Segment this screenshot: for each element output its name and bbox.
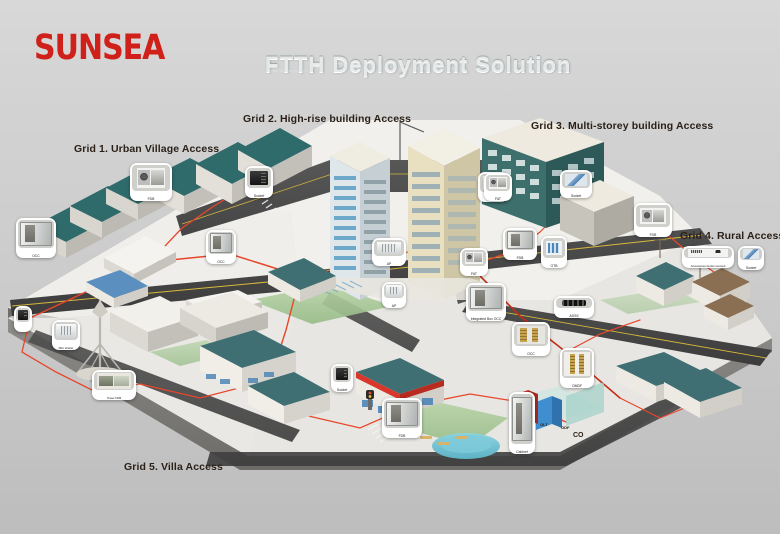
tree bbox=[216, 298, 225, 314]
ftth-deployment-diagram: SUNSEA FTTH Deployment Solution FTTH Dep… bbox=[0, 0, 780, 534]
tree bbox=[252, 270, 261, 286]
callout-tower-fdb-grid5[interactable]: Tower FDB bbox=[92, 370, 136, 400]
tree bbox=[58, 388, 67, 404]
tree bbox=[116, 418, 125, 434]
callout-ap-roof-grid2[interactable]: AP bbox=[372, 238, 406, 266]
grid-label-grid5: Grid 5. Villa Access bbox=[124, 461, 223, 473]
tree bbox=[372, 290, 381, 306]
tree bbox=[660, 256, 669, 272]
tree bbox=[96, 408, 105, 424]
callout-label: Mini shelter bbox=[52, 346, 80, 350]
callout-fat-grid3[interactable]: FAT bbox=[484, 173, 512, 201]
tree bbox=[146, 336, 155, 352]
equipment-image-fdb bbox=[132, 165, 170, 191]
callout-ap-lower-grid2[interactable]: AP bbox=[382, 282, 406, 308]
callout-socket-grid1[interactable]: Socket bbox=[245, 166, 273, 198]
equipment-image-integrated-box-occ bbox=[468, 285, 504, 311]
equipment-image-omdf bbox=[562, 350, 592, 378]
equipment-image-occ bbox=[208, 232, 234, 254]
callout-label: FDB bbox=[382, 434, 422, 438]
equipment-image-cabinet bbox=[16, 308, 30, 322]
callout-label: FDB bbox=[130, 197, 172, 201]
tree bbox=[200, 420, 209, 436]
tree bbox=[714, 324, 723, 340]
grid-label-grid2: Grid 2. High-rise building Access bbox=[243, 113, 411, 125]
tree bbox=[646, 262, 655, 278]
tree bbox=[292, 296, 301, 312]
callout-label: FDB bbox=[634, 233, 672, 237]
tree bbox=[160, 282, 169, 298]
callout-occ-street-grid1[interactable]: OCC bbox=[206, 230, 236, 264]
equipment-image-socket bbox=[333, 366, 351, 382]
callout-label: AP bbox=[372, 262, 406, 266]
callout-label: FDB bbox=[503, 256, 537, 260]
tree bbox=[74, 258, 83, 274]
tree bbox=[520, 272, 529, 288]
callout-edge-cabinet[interactable] bbox=[14, 306, 32, 332]
callout-label: OMDF bbox=[560, 384, 594, 388]
callout-socket-grid3[interactable]: Socket bbox=[560, 170, 592, 198]
tree bbox=[596, 288, 605, 304]
callout-label: Socket bbox=[560, 194, 592, 198]
equipment-image-fdb bbox=[384, 400, 420, 428]
equipment-image-mini-shelter bbox=[54, 322, 78, 340]
callout-adss[interactable]: ADSS bbox=[554, 296, 594, 318]
equipment-image-occ bbox=[18, 220, 54, 248]
callout-cabinet[interactable]: Cabinet bbox=[509, 392, 535, 454]
equipment-image-adss bbox=[556, 298, 592, 308]
callout-label: OCC bbox=[206, 260, 236, 264]
equipment-image-fdb bbox=[636, 205, 670, 227]
callout-fat-grid2[interactable]: FAT bbox=[460, 248, 488, 276]
tree bbox=[266, 282, 275, 298]
callout-label: Socket bbox=[738, 266, 764, 270]
tree bbox=[330, 296, 339, 312]
equipment-image-ap bbox=[374, 240, 404, 256]
tree bbox=[164, 344, 173, 360]
equipment-image-cabinet bbox=[511, 394, 533, 444]
tree bbox=[306, 432, 315, 448]
callout-label: OCC bbox=[512, 352, 550, 356]
callout-socket-grid5[interactable]: Socket bbox=[331, 364, 353, 392]
callout-label: Socket bbox=[331, 388, 353, 392]
equipment-image-socket bbox=[247, 168, 271, 188]
equipment-image-tower-fdb bbox=[94, 372, 134, 390]
co-equipment-label-olt: OLT bbox=[540, 422, 548, 427]
callout-accessories-aerial-mounted-grid4[interactable]: Accessories Aerial mounted bbox=[682, 246, 734, 268]
grid-label-grid3: Grid 3. Multi-storey building Access bbox=[531, 120, 713, 132]
callout-integrated-box-occ-grid2[interactable]: Integrated Box OCC bbox=[466, 283, 506, 321]
grid-label-grid1: Grid 1. Urban Village Access bbox=[74, 143, 219, 155]
co-equipment-label-odf: ODF bbox=[561, 425, 569, 430]
tree bbox=[254, 444, 263, 460]
callout-fdb-grid1[interactable]: FDB bbox=[130, 163, 172, 201]
equipment-image-fat bbox=[462, 250, 486, 266]
site-label-co: CO bbox=[573, 432, 584, 439]
callout-fdb-grid3[interactable]: FDB bbox=[503, 228, 537, 260]
tree bbox=[352, 284, 361, 300]
equipment-image-socket bbox=[740, 248, 762, 260]
tree bbox=[218, 428, 227, 444]
callout-label: Accessories Aerial mounted bbox=[682, 264, 734, 268]
equipment-image-otb bbox=[543, 238, 565, 258]
callout-occ-core[interactable]: OCC bbox=[512, 322, 550, 356]
callout-omdf[interactable]: OMDF bbox=[560, 348, 594, 388]
callout-label: OCC bbox=[16, 254, 56, 258]
equipment-image-accessories bbox=[684, 248, 732, 258]
callout-label: Cabinet bbox=[509, 450, 535, 454]
tree bbox=[310, 306, 319, 322]
callout-otb-grid3[interactable]: OTB bbox=[541, 236, 567, 268]
callout-label: OTB bbox=[541, 264, 567, 268]
callout-fdb-grid4[interactable]: FDB bbox=[634, 203, 672, 237]
tree bbox=[432, 424, 441, 440]
callout-label: Tower FDB bbox=[92, 396, 136, 400]
tree bbox=[176, 276, 185, 292]
callout-mini-shelter-grid5[interactable]: Mini shelter bbox=[52, 320, 80, 350]
equipment-image-ap bbox=[384, 284, 404, 298]
callout-label: Socket bbox=[245, 194, 273, 198]
equipment-image-occ-rack bbox=[514, 324, 548, 346]
grid-label-grid4: Grid 4. Rural Access bbox=[680, 230, 780, 242]
callout-label: FAT bbox=[460, 272, 488, 276]
tree bbox=[608, 352, 617, 368]
tree bbox=[76, 398, 85, 414]
tree bbox=[236, 436, 245, 452]
tree bbox=[338, 420, 347, 436]
tree bbox=[44, 266, 53, 282]
equipment-image-fdb bbox=[505, 230, 535, 250]
tree bbox=[730, 330, 739, 346]
callout-label: ADSS bbox=[554, 314, 594, 318]
callout-fdb-grid5[interactable]: FDB bbox=[382, 398, 422, 438]
tree bbox=[238, 262, 247, 278]
tree bbox=[492, 404, 501, 420]
equipment-image-fat bbox=[486, 175, 510, 191]
tree bbox=[624, 346, 633, 362]
tree bbox=[120, 246, 129, 262]
callout-socket-grid4[interactable]: Socket bbox=[738, 246, 764, 270]
callout-occ-grid1[interactable]: OCC bbox=[16, 218, 56, 258]
tree bbox=[182, 352, 191, 368]
callout-label: Integrated Box OCC bbox=[466, 317, 506, 321]
equipment-image-socket bbox=[562, 172, 590, 188]
callout-label: FAT bbox=[484, 197, 512, 201]
callout-label: AP bbox=[382, 304, 406, 308]
